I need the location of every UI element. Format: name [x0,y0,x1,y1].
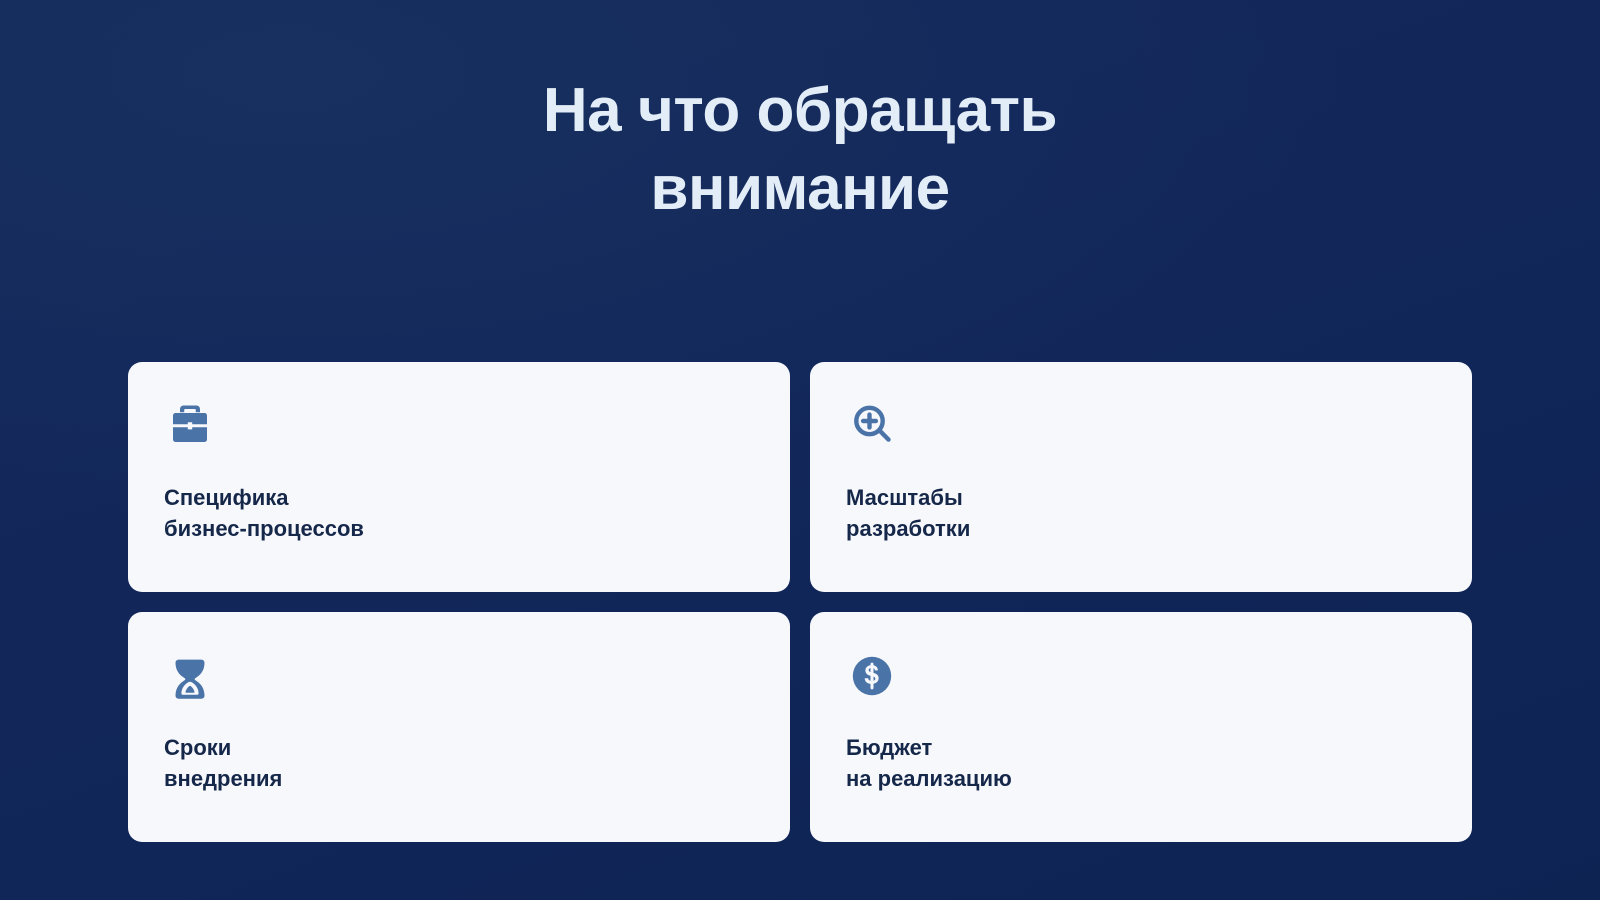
slide-root: На что обращать внимание Специфика бизне… [0,0,1600,900]
card-business-process-specifics[interactable]: Специфика бизнес-процессов [128,362,790,592]
briefcase-icon [164,398,216,450]
card-label: Масштабы разработки [846,482,1436,544]
card-label: Специфика бизнес-процессов [164,482,754,544]
magnifier-plus-icon [846,398,898,450]
hourglass-icon [164,650,216,702]
card-label: Бюджет на реализацию [846,732,1436,794]
card-grid: Специфика бизнес-процессов Масштабы разр… [128,362,1472,842]
card-development-scale[interactable]: Масштабы разработки [810,362,1472,592]
card-implementation-timeline[interactable]: Сроки внедрения [128,612,790,842]
title-container: На что обращать внимание [0,72,1600,228]
page-title: На что обращать внимание [420,72,1180,228]
dollar-circle-icon [846,650,898,702]
card-label: Сроки внедрения [164,732,754,794]
card-implementation-budget[interactable]: Бюджет на реализацию [810,612,1472,842]
